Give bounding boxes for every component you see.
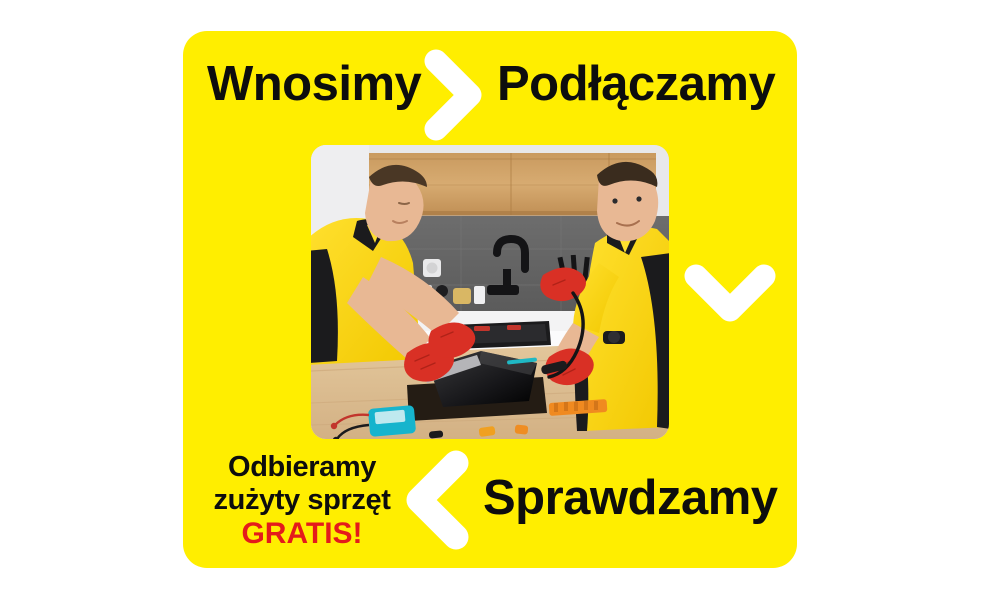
step-label-podlaczamy: Podłączamy (497, 60, 775, 109)
step-label-sprawdzamy: Sprawdzamy (483, 474, 778, 523)
pickup-offer-free-badge: GRATIS! (186, 517, 418, 551)
promo-banner: Wnosimy Podłączamy Sprawdzamy Odbieramy … (0, 0, 1000, 591)
chevron-right-icon (424, 49, 484, 141)
installation-photo (311, 145, 669, 439)
chevron-left-icon (404, 450, 470, 550)
pickup-offer-block: Odbieramy zużyty sprzęt GRATIS! (186, 451, 418, 551)
pickup-offer-line-1: Odbieramy (186, 451, 418, 484)
step-label-wnosimy: Wnosimy (207, 60, 421, 109)
pickup-offer-line-2: zużyty sprzęt (186, 484, 418, 517)
chevron-down-icon (684, 264, 776, 324)
